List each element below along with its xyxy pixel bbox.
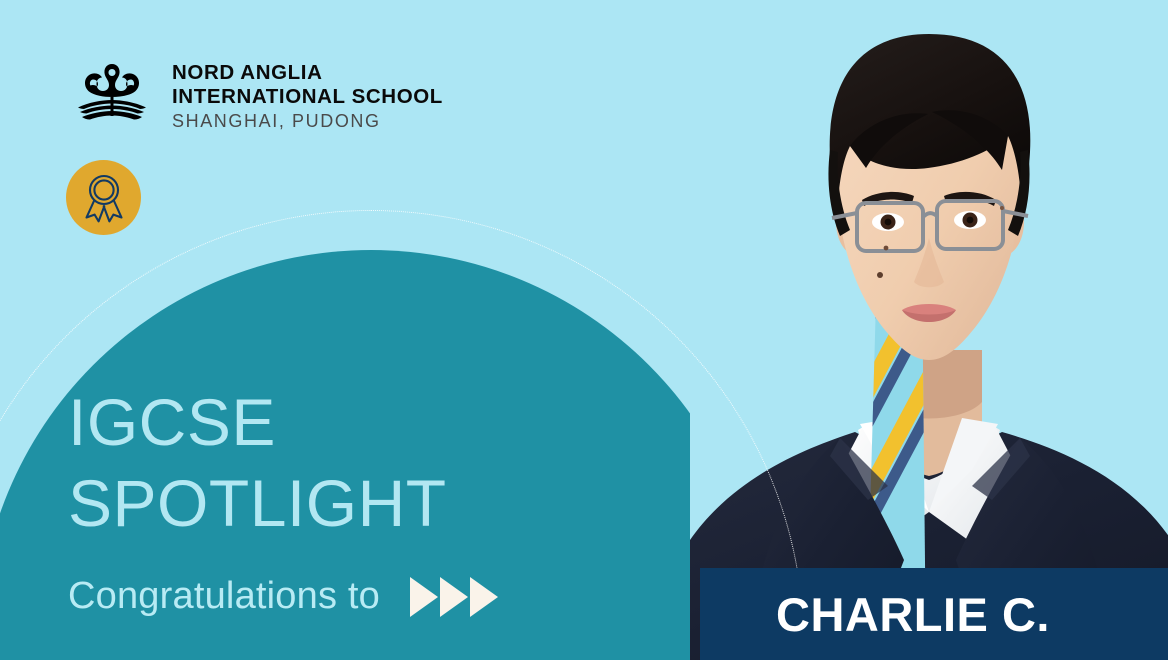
school-logo-text: NORD ANGLIA INTERNATIONAL SCHOOL SHANGHA… — [172, 58, 443, 133]
student-name: CHARLIE C. — [776, 587, 1050, 642]
congratulations-label: Congratulations to — [68, 575, 380, 618]
triangle-right-icon — [470, 577, 498, 617]
page-title: IGCSE SPOTLIGHT — [68, 382, 447, 543]
student-photo — [690, 0, 1168, 660]
igcse-spotlight-poster: NORD ANGLIA INTERNATIONAL SCHOOL SHANGHA… — [0, 0, 1168, 660]
nord-anglia-crown-book-logo-icon — [66, 58, 158, 128]
congratulations-row: Congratulations to — [68, 575, 498, 618]
student-name-banner: CHARLIE C. — [700, 568, 1168, 660]
triangle-right-icon — [410, 577, 438, 617]
logo-line-nord-anglia: NORD ANGLIA — [172, 61, 443, 85]
award-badge — [66, 160, 141, 235]
award-ribbon-icon — [80, 173, 128, 223]
triangle-right-icon — [440, 577, 468, 617]
arrow-group — [410, 577, 498, 617]
logo-line-international-school: INTERNATIONAL SCHOOL — [172, 85, 443, 109]
school-logo: NORD ANGLIA INTERNATIONAL SCHOOL SHANGHA… — [66, 58, 443, 133]
logo-line-campus: SHANGHAI, PUDONG — [172, 109, 443, 133]
